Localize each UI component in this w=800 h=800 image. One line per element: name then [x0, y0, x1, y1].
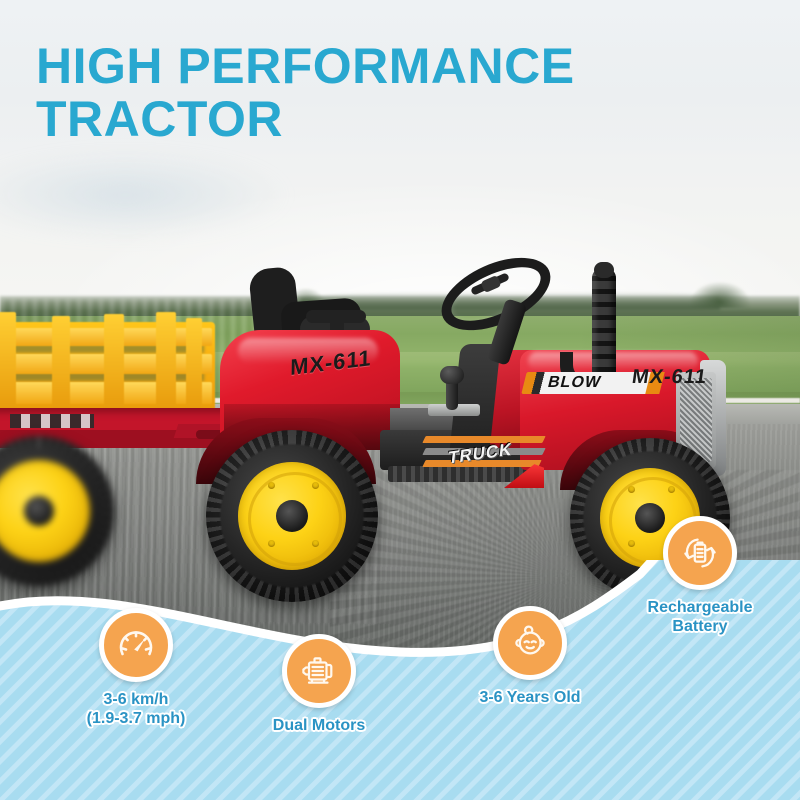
feature-label-line-1: Rechargeable [648, 599, 753, 616]
electric-motor-icon [298, 650, 340, 692]
trailer-post [104, 314, 124, 410]
hub-cap [24, 496, 54, 526]
wheel-lug [668, 486, 675, 493]
feature-label-line-1: Dual Motors [273, 717, 365, 734]
trailer-post [0, 312, 16, 410]
sky-haze [0, 120, 800, 320]
feature-age[interactable]: 3-6 Years Old [450, 606, 610, 708]
wheel-lug [268, 540, 275, 547]
feature-motors[interactable]: Dual Motors [239, 634, 399, 736]
page-title: HIGH PERFORMANCE TRACTOR [36, 40, 676, 146]
decal-side-brand: BLOW [546, 374, 603, 392]
exhaust-stack [592, 268, 616, 388]
trailer-post [52, 316, 70, 410]
feature-icon-circle [493, 606, 567, 680]
tree-clump [690, 282, 750, 308]
trailer-reflector-strip [10, 414, 94, 428]
decal-chevron-orange [422, 436, 545, 443]
promo-image: MX-611 BLOW MX-611 TRUCK [0, 0, 800, 800]
trailer-post [156, 312, 176, 410]
feature-label: Dual Motors [239, 717, 399, 736]
wheel-lug [312, 482, 319, 489]
feature-label-line-1: 3-6 km/h [104, 691, 169, 708]
speedometer-icon [115, 624, 157, 666]
feature-label-line-2: Battery [672, 618, 727, 635]
feature-label: Rechargeable Battery [610, 599, 790, 637]
hub-cap [276, 500, 308, 532]
exhaust-tip [594, 262, 614, 278]
feature-icon-circle [99, 608, 173, 682]
feature-label: 3-6 Years Old [450, 689, 610, 708]
trailer-post [186, 318, 202, 410]
gear-shifter-knob[interactable] [440, 366, 464, 384]
feature-label-line-2: (1.9-3.7 mph) [87, 710, 186, 727]
feature-label-line-1: 3-6 Years Old [479, 689, 580, 706]
feature-icon-circle [663, 516, 737, 590]
title-line-2: TRACTOR [36, 93, 676, 146]
feature-speed[interactable]: 3-6 km/h (1.9-3.7 mph) [56, 608, 216, 729]
title-line-1: HIGH PERFORMANCE [36, 38, 575, 94]
wheel-lug [628, 486, 635, 493]
wheel-lug [268, 482, 275, 489]
decal-hood-model: MX-611 [630, 366, 708, 389]
baby-face-icon [509, 622, 551, 664]
wheel-lug [312, 540, 319, 547]
feature-battery[interactable]: Rechargeable Battery [610, 516, 790, 637]
feature-icon-circle [282, 634, 356, 708]
rechargeable-battery-icon [679, 532, 721, 574]
feature-label: 3-6 km/h (1.9-3.7 mph) [56, 691, 216, 729]
